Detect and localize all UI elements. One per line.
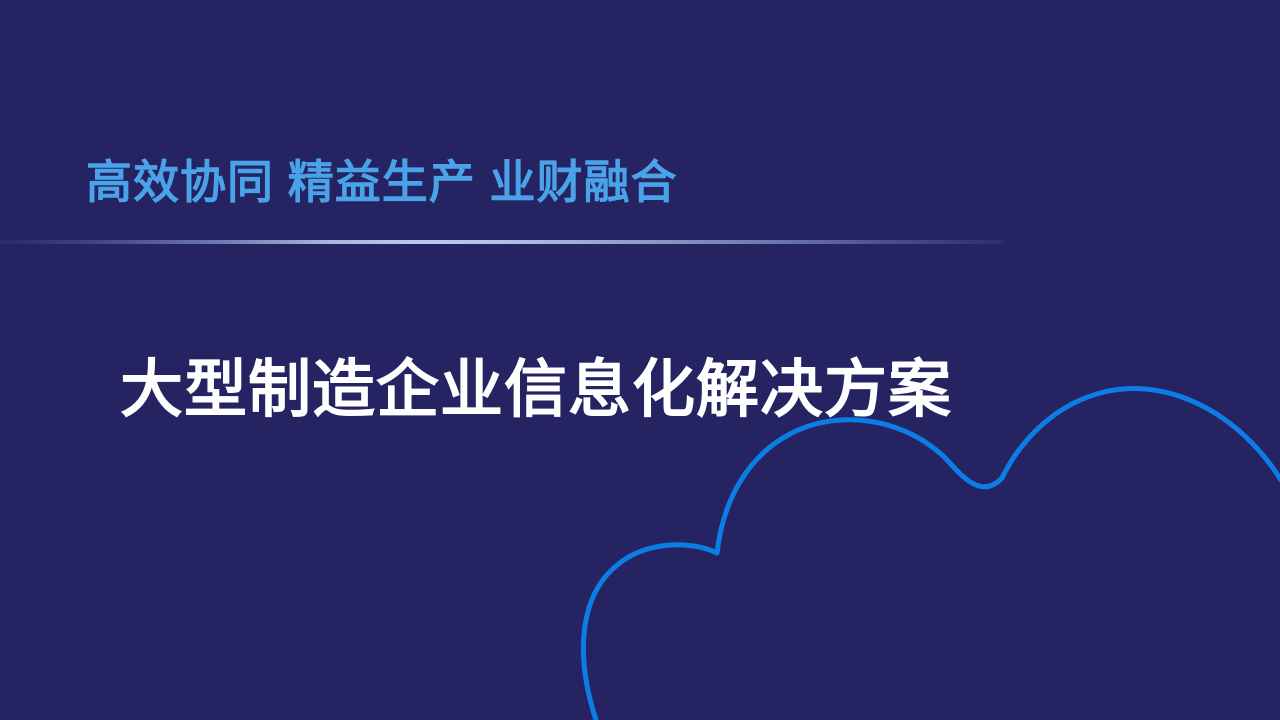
slide-tagline: 高效协同 精益生产 业财融合 <box>86 154 678 210</box>
slide-headline: 大型制造企业信息化解决方案 <box>120 352 952 428</box>
title-slide: 高效协同 精益生产 业财融合 大型制造企业信息化解决方案 <box>0 0 1280 720</box>
cloud-outline-path <box>583 389 1280 720</box>
gradient-divider <box>0 240 1005 244</box>
